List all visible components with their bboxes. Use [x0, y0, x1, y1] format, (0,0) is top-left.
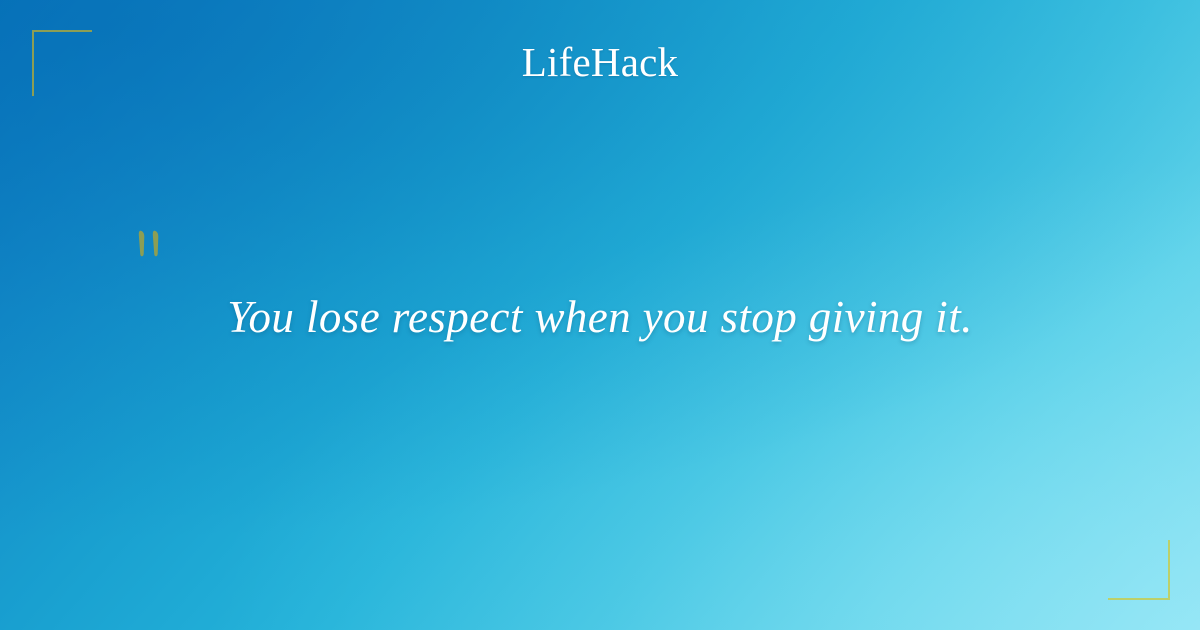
corner-bracket-bottom-right-icon	[1108, 540, 1170, 600]
quote-mark-icon	[130, 226, 180, 276]
quote-text: You lose respect when you stop giving it…	[227, 288, 973, 346]
quote-block: You lose respect when you stop giving it…	[0, 288, 1200, 346]
brand-logo: LifeHack	[0, 38, 1200, 86]
quote-card: LifeHack You lose respect when you stop …	[0, 0, 1200, 630]
